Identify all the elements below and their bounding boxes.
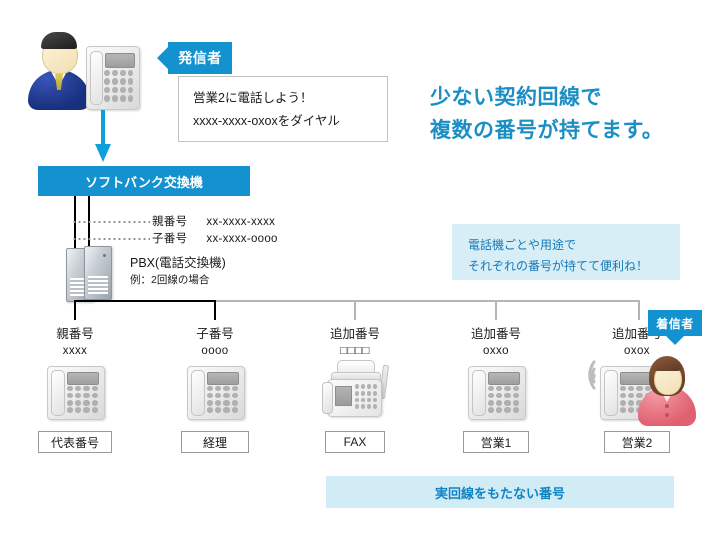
extension-label-4: 追加番号 oxxo [451, 326, 541, 360]
extension-device-4 [468, 366, 524, 418]
extension-device-3 [322, 360, 388, 418]
parent-number-leader [72, 221, 150, 223]
drop-line-5 [638, 300, 640, 320]
pbx-parent-number-label: 親番号 [152, 216, 187, 228]
pbx-child-number-label: 子番号 [152, 233, 187, 245]
extension-label-2: 子番号 oooo [170, 326, 260, 360]
woman-avatar [634, 356, 708, 422]
extension-number-2: oooo [170, 343, 260, 360]
caller-callout: 営業2に電話しよう！ xxxx-xxxx-oxoxをダイヤル [178, 76, 388, 142]
page-title: 少ない契約回線で 複数の番号が持てます。 [430, 82, 700, 147]
softbank-exchange-label: ソフトバンク交換機 [85, 172, 203, 191]
extension-number-1: xxxx [30, 343, 120, 360]
drop-line-1 [74, 300, 76, 320]
extension-label-1: 親番号 xxxx [30, 326, 120, 360]
extension-number-4: oxxo [451, 343, 541, 360]
extension-name-3: FAX [325, 431, 385, 453]
extension-name-1: 代表番号 [38, 431, 112, 453]
server-rack-icon [66, 246, 122, 302]
virtual-number-bar: 実回線をもたない番号 [326, 476, 674, 508]
tip-box: 電話機ごとや用途で それぞれの番号が持てて便利ね！ [452, 224, 680, 280]
pbx-child-number-value: xx-xxxx-oooo [206, 233, 277, 245]
wireless-signal-icon [568, 358, 598, 392]
extension-type-3: 追加番号 [310, 326, 400, 343]
tip-line-2: それぞれの番号が持てて便利ね！ [468, 256, 664, 277]
drop-line-2 [214, 300, 216, 320]
child-number-leader [72, 238, 150, 240]
receiver-badge-label: 着信者 [656, 315, 694, 332]
bus-virtual-segment [216, 300, 640, 302]
virtual-number-bar-label: 実回線をもたない番号 [435, 483, 565, 502]
caller-badge: 発信者 [168, 42, 232, 74]
pbx-title: PBX(電話交換機) [130, 254, 226, 273]
callout-line-1: 営業2に電話しよう！ [193, 87, 373, 110]
pbx-child-number-row: 子番号 xx-xxxx-oooo [152, 230, 278, 246]
extension-type-2: 子番号 [170, 326, 260, 343]
receiver-badge: 着信者 [648, 310, 702, 336]
extension-name-4: 営業1 [463, 431, 529, 453]
extension-type-1: 親番号 [30, 326, 120, 343]
drop-line-4 [495, 300, 497, 320]
drop-line-3 [354, 300, 356, 320]
tip-line-1: 電話機ごとや用途で [468, 235, 664, 256]
pbx-parent-number-value: xx-xxxx-xxxx [206, 216, 275, 228]
extension-device-1 [47, 366, 103, 418]
extension-label-3: 追加番号 □□□□ [310, 326, 400, 360]
pbx-caption: PBX(電話交換機) 例：2回線の場合 [130, 254, 226, 289]
callout-line-2: xxxx-xxxx-oxoxをダイヤル [193, 110, 373, 133]
caller-badge-label: 発信者 [178, 48, 222, 68]
extension-number-3: □□□□ [310, 343, 400, 360]
extension-type-4: 追加番号 [451, 326, 541, 343]
extension-name-5: 営業2 [604, 431, 670, 453]
extension-device-2 [187, 366, 243, 418]
pbx-subtitle: 例：2回線の場合 [130, 273, 226, 289]
badge-left-notch-icon [157, 47, 168, 69]
bus-real-segment [74, 300, 216, 302]
down-arrow-icon [95, 110, 111, 162]
extension-name-2: 経理 [181, 431, 249, 453]
caller-desk-phone-icon [86, 46, 138, 108]
diagram-canvas: 発信者 営業2に電話しよう！ xxxx-xxxx-oxoxをダイヤル ソフトバン… [0, 0, 710, 534]
softbank-exchange-bar: ソフトバンク交換機 [38, 166, 250, 196]
badge-down-notch-icon [666, 336, 684, 345]
pbx-parent-number-row: 親番号 xx-xxxx-xxxx [152, 213, 275, 229]
